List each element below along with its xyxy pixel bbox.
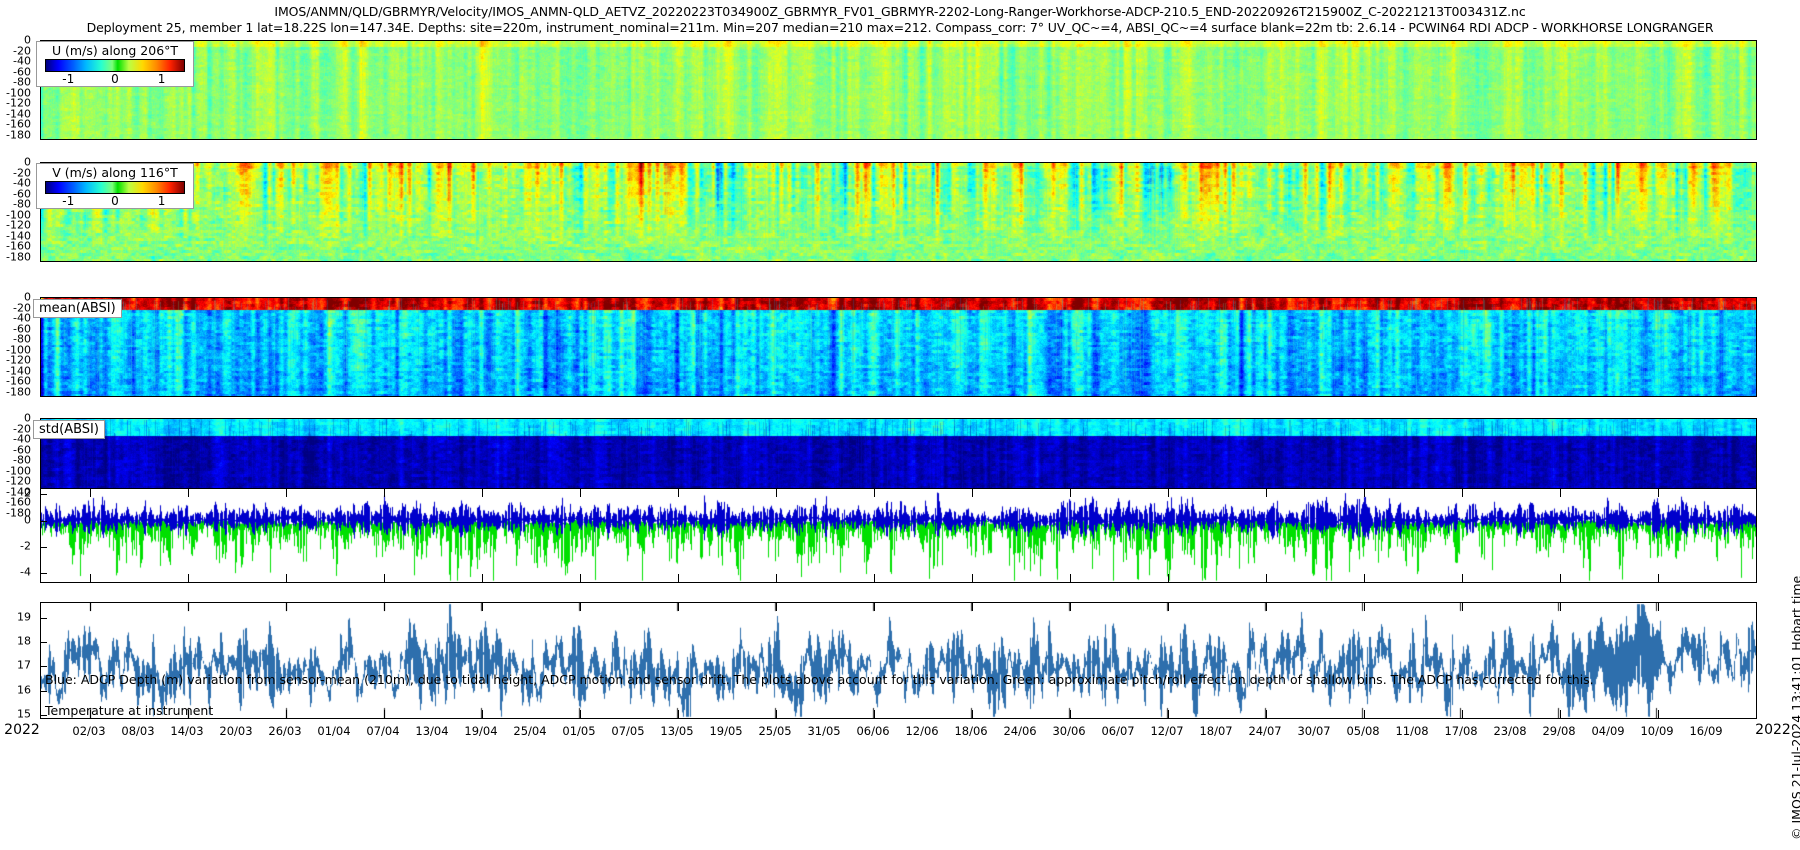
x-tick-mark <box>384 574 385 582</box>
x-tick-mark <box>1070 710 1071 718</box>
y-tick-mark <box>41 521 47 522</box>
x-tick-label: 12/06 <box>905 724 938 738</box>
y-tick-label: -180 <box>6 387 34 398</box>
y-axis-mean-absi: 0-20-40-60-80-100-120-140-160-180 <box>0 297 34 397</box>
x-tick-mark <box>1462 574 1463 582</box>
x-tick-label: 10/09 <box>1640 724 1673 738</box>
x-tick-mark <box>1168 603 1169 611</box>
y-tick-label: 16 <box>17 684 34 695</box>
x-tick-label: 05/08 <box>1346 724 1379 738</box>
panel-depth-variation <box>40 488 1757 583</box>
y-tick-label: -180 <box>6 130 34 141</box>
x-axis: 02/0308/0314/0320/0326/0301/0407/0413/04… <box>0 724 1800 744</box>
y-tick-label: 17 <box>17 660 34 671</box>
x-tick-mark <box>90 603 91 611</box>
colorbar-v-tick-2: 1 <box>158 194 166 208</box>
colorbar-u-tick-2: 1 <box>158 72 166 86</box>
x-tick-mark <box>678 489 679 497</box>
y-tick-mark <box>41 547 47 548</box>
colorbar-v: V (m/s) along 116°T -1 0 1 <box>36 163 194 209</box>
caption-temperature: Temperature at instrument <box>45 703 213 718</box>
x-axis-year-start: 2022 <box>4 722 40 738</box>
x-tick-label: 20/03 <box>219 724 252 738</box>
x-tick-label: 11/08 <box>1395 724 1428 738</box>
x-tick-mark <box>580 574 581 582</box>
x-tick-label: 30/07 <box>1297 724 1330 738</box>
x-tick-mark <box>1070 489 1071 497</box>
x-tick-mark <box>678 710 679 718</box>
x-tick-mark <box>776 574 777 582</box>
x-tick-label: 17/08 <box>1444 724 1477 738</box>
x-tick-label: 14/03 <box>170 724 203 738</box>
y-axis-temperature: 1918171615 <box>0 602 34 719</box>
x-tick-mark <box>1658 574 1659 582</box>
x-tick-mark <box>482 710 483 718</box>
x-tick-mark <box>1462 489 1463 497</box>
y-tick-mark <box>41 642 47 643</box>
x-tick-mark <box>384 603 385 611</box>
y-tick-mark <box>41 666 47 667</box>
y-tick-label: 15 <box>17 709 34 720</box>
x-tick-label: 30/06 <box>1052 724 1085 738</box>
x-tick-label: 07/04 <box>366 724 399 738</box>
x-tick-label: 08/03 <box>121 724 154 738</box>
x-tick-mark <box>874 603 875 611</box>
x-tick-label: 16/09 <box>1689 724 1722 738</box>
x-tick-mark <box>1266 603 1267 611</box>
x-tick-mark <box>874 574 875 582</box>
x-tick-label: 06/07 <box>1101 724 1134 738</box>
x-tick-mark <box>972 489 973 497</box>
x-tick-mark <box>90 574 91 582</box>
x-tick-label: 06/06 <box>856 724 889 738</box>
panel-label-std-absi: std(ABSI) <box>33 420 105 439</box>
x-tick-label: 01/04 <box>317 724 350 738</box>
x-tick-mark <box>580 603 581 611</box>
colorbar-v-title: V (m/s) along 116°T <box>45 166 185 180</box>
colorbar-u-gradient <box>45 59 185 72</box>
panel-temperature <box>40 602 1757 719</box>
y-tick-mark <box>41 494 47 495</box>
x-tick-label: 04/09 <box>1591 724 1624 738</box>
x-tick-mark <box>384 489 385 497</box>
adcp-plot-page: IMOS/ANMN/QLD/GBRMYR/Velocity/IMOS_ANMN-… <box>0 0 1800 850</box>
x-tick-mark <box>1266 489 1267 497</box>
y-axis-depth-variation: 20-2-4 <box>0 488 34 583</box>
x-tick-label: 29/08 <box>1542 724 1575 738</box>
x-tick-mark <box>972 574 973 582</box>
y-tick-mark <box>41 618 47 619</box>
x-tick-label: 07/05 <box>611 724 644 738</box>
x-tick-mark <box>1560 603 1561 611</box>
x-tick-mark <box>874 489 875 497</box>
x-tick-mark <box>874 710 875 718</box>
x-tick-mark <box>1658 489 1659 497</box>
colorbar-u-tick-0: -1 <box>62 72 74 86</box>
colorbar-v-gradient <box>45 181 185 194</box>
y-tick-label: -4 <box>20 567 34 578</box>
x-tick-mark <box>286 603 287 611</box>
y-axis-u: 0-20-40-60-80-100-120-140-160-180 <box>0 40 34 140</box>
x-tick-mark <box>286 710 287 718</box>
x-tick-mark <box>1560 489 1561 497</box>
caption-depth-variation: Blue: ADCP Depth (m) variation from sens… <box>45 672 1594 687</box>
panel-label-mean-absi: mean(ABSI) <box>33 299 122 318</box>
x-tick-mark <box>776 603 777 611</box>
x-tick-mark <box>580 710 581 718</box>
x-axis-year-end: 2022 <box>1755 722 1791 738</box>
x-tick-mark <box>1266 710 1267 718</box>
x-tick-mark <box>286 574 287 582</box>
x-tick-mark <box>678 603 679 611</box>
panel-u-velocity <box>40 40 1757 140</box>
x-tick-mark <box>1364 710 1365 718</box>
x-tick-mark <box>188 489 189 497</box>
x-tick-mark <box>1560 574 1561 582</box>
x-tick-mark <box>384 710 385 718</box>
y-tick-mark <box>41 573 47 574</box>
x-tick-label: 25/04 <box>513 724 546 738</box>
x-tick-mark <box>972 603 973 611</box>
x-tick-mark <box>90 489 91 497</box>
x-tick-label: 25/05 <box>758 724 791 738</box>
x-tick-mark <box>580 489 581 497</box>
colorbar-u-title: U (m/s) along 206°T <box>45 44 185 58</box>
x-tick-mark <box>1658 710 1659 718</box>
colorbar-v-tick-1: 0 <box>111 194 119 208</box>
x-tick-mark <box>776 710 777 718</box>
x-tick-mark <box>1364 574 1365 582</box>
x-tick-mark <box>776 489 777 497</box>
page-title-file: IMOS/ANMN/QLD/GBRMYR/Velocity/IMOS_ANMN-… <box>0 4 1800 19</box>
x-tick-label: 01/05 <box>562 724 595 738</box>
colorbar-u: U (m/s) along 206°T -1 0 1 <box>36 41 194 87</box>
x-tick-label: 13/05 <box>660 724 693 738</box>
x-tick-mark <box>286 489 287 497</box>
x-tick-mark <box>678 574 679 582</box>
x-tick-mark <box>1462 710 1463 718</box>
credit-text: © IMOS 21-Jul-2024 13:41:01 Hobart time <box>1789 576 1800 840</box>
x-tick-label: 31/05 <box>807 724 840 738</box>
x-tick-label: 02/03 <box>72 724 105 738</box>
x-tick-mark <box>1070 574 1071 582</box>
x-tick-mark <box>1364 603 1365 611</box>
y-tick-label: 19 <box>17 611 34 622</box>
x-tick-mark <box>1168 489 1169 497</box>
x-tick-label: 23/08 <box>1493 724 1526 738</box>
x-tick-label: 19/04 <box>464 724 497 738</box>
page-title-metadata: Deployment 25, member 1 lat=18.22S lon=1… <box>0 20 1800 35</box>
panel-v-velocity <box>40 162 1757 262</box>
panel-mean-absi <box>40 297 1757 397</box>
colorbar-v-tick-0: -1 <box>62 194 74 208</box>
x-tick-mark <box>482 603 483 611</box>
x-tick-mark <box>1168 710 1169 718</box>
y-tick-label: -180 <box>6 252 34 263</box>
x-tick-mark <box>482 489 483 497</box>
y-tick-label: 2 <box>24 488 34 499</box>
x-tick-label: 13/04 <box>415 724 448 738</box>
y-tick-label: 0 <box>24 514 34 525</box>
x-tick-label: 24/07 <box>1248 724 1281 738</box>
y-tick-label: 18 <box>17 636 34 647</box>
x-tick-mark <box>1462 603 1463 611</box>
x-tick-label: 12/07 <box>1150 724 1183 738</box>
x-tick-mark <box>972 710 973 718</box>
x-tick-mark <box>1658 603 1659 611</box>
x-tick-label: 26/03 <box>268 724 301 738</box>
y-tick-mark <box>41 691 47 692</box>
y-tick-label: -2 <box>20 541 34 552</box>
x-tick-mark <box>1364 489 1365 497</box>
y-axis-v: 0-20-40-60-80-100-120-140-160-180 <box>0 162 34 262</box>
x-tick-mark <box>188 574 189 582</box>
x-tick-mark <box>1070 603 1071 611</box>
x-tick-label: 18/07 <box>1199 724 1232 738</box>
x-tick-label: 18/06 <box>954 724 987 738</box>
colorbar-u-tick-1: 0 <box>111 72 119 86</box>
x-tick-mark <box>482 574 483 582</box>
x-tick-mark <box>1560 710 1561 718</box>
x-tick-label: 24/06 <box>1003 724 1036 738</box>
x-tick-mark <box>1168 574 1169 582</box>
x-tick-mark <box>1266 574 1267 582</box>
x-tick-mark <box>188 603 189 611</box>
x-tick-label: 19/05 <box>709 724 742 738</box>
